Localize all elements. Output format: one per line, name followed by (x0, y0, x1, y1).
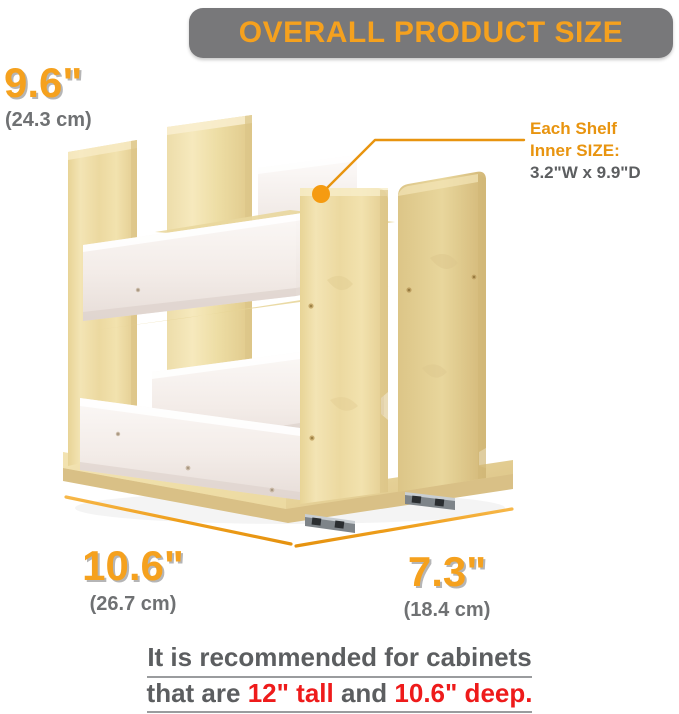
recommendation-line-1: It is recommended for cabinets (0, 642, 679, 678)
dimension-depth: 7.3" (18.4 cm) (352, 551, 542, 620)
recommendation-pre: that are (147, 678, 248, 708)
recommendation-line-1-text: It is recommended for cabinets (147, 642, 531, 678)
dimension-width: 10.6" (26.7 cm) (38, 545, 228, 614)
recommendation-depth-highlight: 10.6" deep. (394, 678, 532, 708)
dimension-height: 9.6" (24.3 cm) (4, 62, 92, 130)
callout-line-1: Each Shelf (530, 118, 641, 140)
panel-front-right (398, 172, 486, 492)
recommendation-note: It is recommended for cabinets that are … (0, 642, 679, 713)
recommendation-mid: and (334, 678, 395, 708)
dimension-depth-metric: (18.4 cm) (352, 600, 542, 620)
shelf-inner-size-callout: Each Shelf Inner SIZE: 3.2"W x 9.9"D (530, 118, 641, 183)
recommendation-height-highlight: 12" tall (248, 678, 334, 708)
recommendation-line-2: that are 12" tall and 10.6" deep. (0, 678, 679, 714)
callout-line-2: Inner SIZE: (530, 140, 641, 162)
callout-line-3: 3.2"W x 9.9"D (530, 162, 641, 184)
callout-anchor-dot (312, 185, 330, 203)
panel-front-left (300, 188, 388, 504)
infographic-page: OVERALL PRODUCT SIZE (0, 0, 679, 714)
dimension-height-metric: (24.3 cm) (5, 110, 92, 130)
recommendation-line-2-text: that are 12" tall and 10.6" deep. (147, 678, 533, 714)
dimension-height-imperial: 9.6" (4, 62, 92, 104)
dimension-depth-imperial: 7.3" (352, 551, 542, 593)
dimension-width-imperial: 10.6" (38, 545, 228, 587)
dimension-width-metric: (26.7 cm) (38, 594, 228, 614)
